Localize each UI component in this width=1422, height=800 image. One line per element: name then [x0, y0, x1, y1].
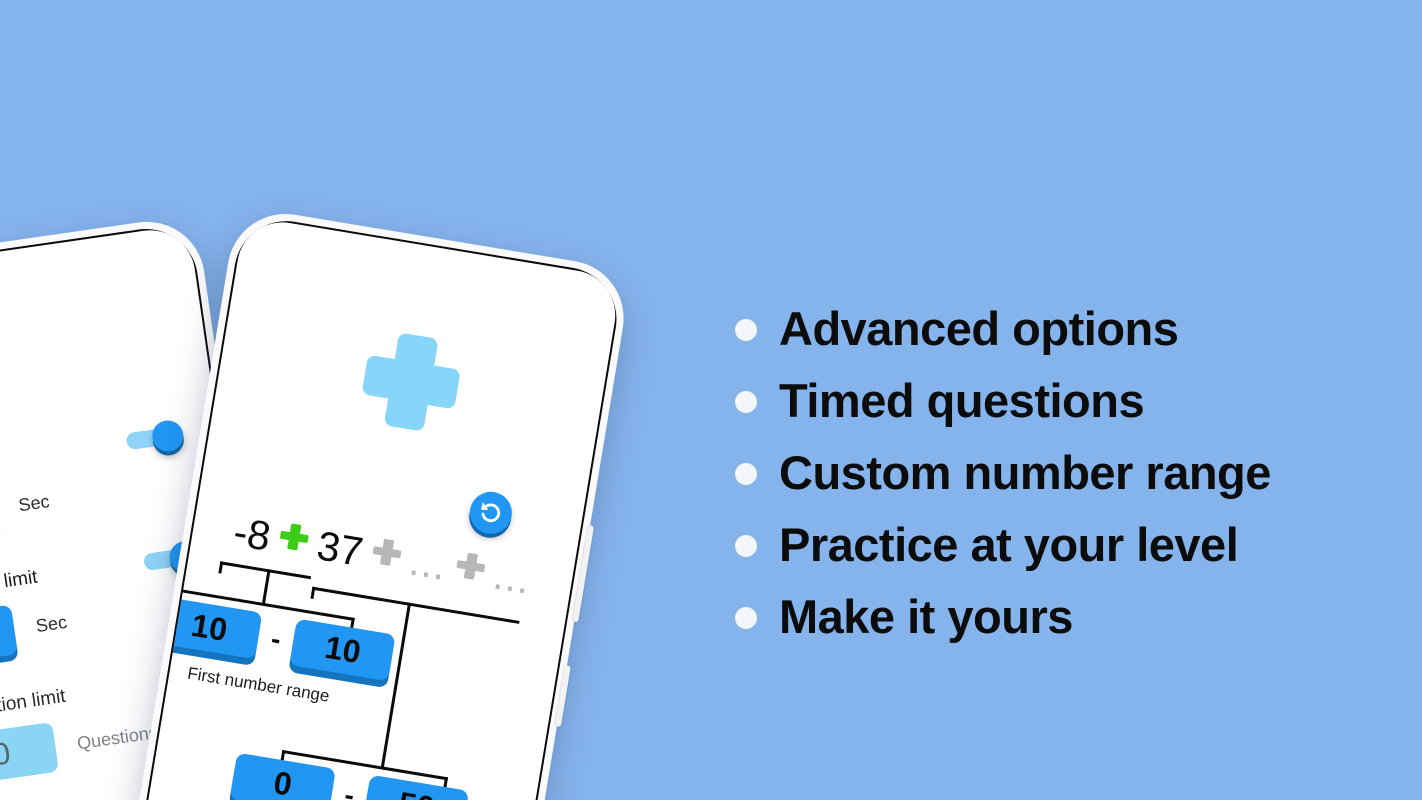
range-min-first[interactable]: 10 — [156, 597, 262, 660]
unit-question-time-limit: Sec — [35, 611, 69, 636]
expression-ellipsis-1: ... — [406, 538, 450, 590]
bullet-icon — [735, 463, 757, 485]
bullet-icon — [735, 319, 757, 341]
reset-button[interactable] — [467, 489, 515, 537]
feature-label: Custom number range — [779, 449, 1271, 496]
expression-first-number: -8 — [230, 508, 274, 560]
gear-icon — [0, 272, 180, 422]
list-item: Custom number range — [735, 436, 1375, 508]
feature-list: Advanced options Timed questions Custom … — [735, 292, 1375, 652]
plus-icon-wrapper — [238, 302, 585, 461]
tree-line — [218, 561, 223, 573]
range-max-first[interactable]: 10 — [290, 619, 396, 682]
tree-line — [381, 603, 411, 769]
expression-ellipsis-2: ... — [490, 551, 534, 603]
plus-icon — [350, 321, 472, 443]
setting-total-time-limit: Total time limit 20 Sec — [0, 422, 198, 552]
range-separator: - — [269, 622, 283, 655]
value-question-time-limit[interactable]: 2 — [0, 605, 18, 672]
unit-question-limit: Questions — [76, 722, 159, 754]
bullet-icon — [735, 535, 757, 557]
operator-active-icon — [276, 513, 313, 564]
range-caption-first: First number range — [186, 664, 331, 707]
tree-line — [310, 587, 315, 599]
operator-pending-2-icon — [452, 542, 489, 593]
expression-second-number: 37 — [314, 522, 367, 576]
feature-label: Advanced options — [779, 305, 1178, 352]
list-item: Timed questions — [735, 364, 1375, 436]
range-separator: - — [342, 778, 356, 800]
setting-label-question-limit: Question limit — [0, 686, 67, 724]
value-question-limit: 10 — [0, 722, 59, 789]
toggle-total-time-limit[interactable] — [125, 422, 186, 452]
list-item: Make it yours — [735, 580, 1375, 652]
reset-icon — [476, 498, 506, 528]
list-item: Practice at your level — [735, 508, 1375, 580]
feature-label: Make it yours — [779, 593, 1073, 640]
unit-total-time-limit: Sec — [17, 491, 51, 516]
range-max-consecutive[interactable]: 50 — [363, 775, 469, 800]
range-min-consecutive[interactable]: 0 — [230, 753, 336, 800]
bullet-icon — [735, 391, 757, 413]
tree-line — [262, 569, 271, 605]
feature-label: Timed questions — [779, 377, 1144, 424]
operator-pending-1-icon — [368, 528, 405, 579]
list-item: Advanced options — [735, 292, 1375, 364]
feature-label: Practice at your level — [779, 521, 1238, 568]
toggle-knob — [150, 418, 185, 453]
bullet-icon — [735, 607, 757, 629]
